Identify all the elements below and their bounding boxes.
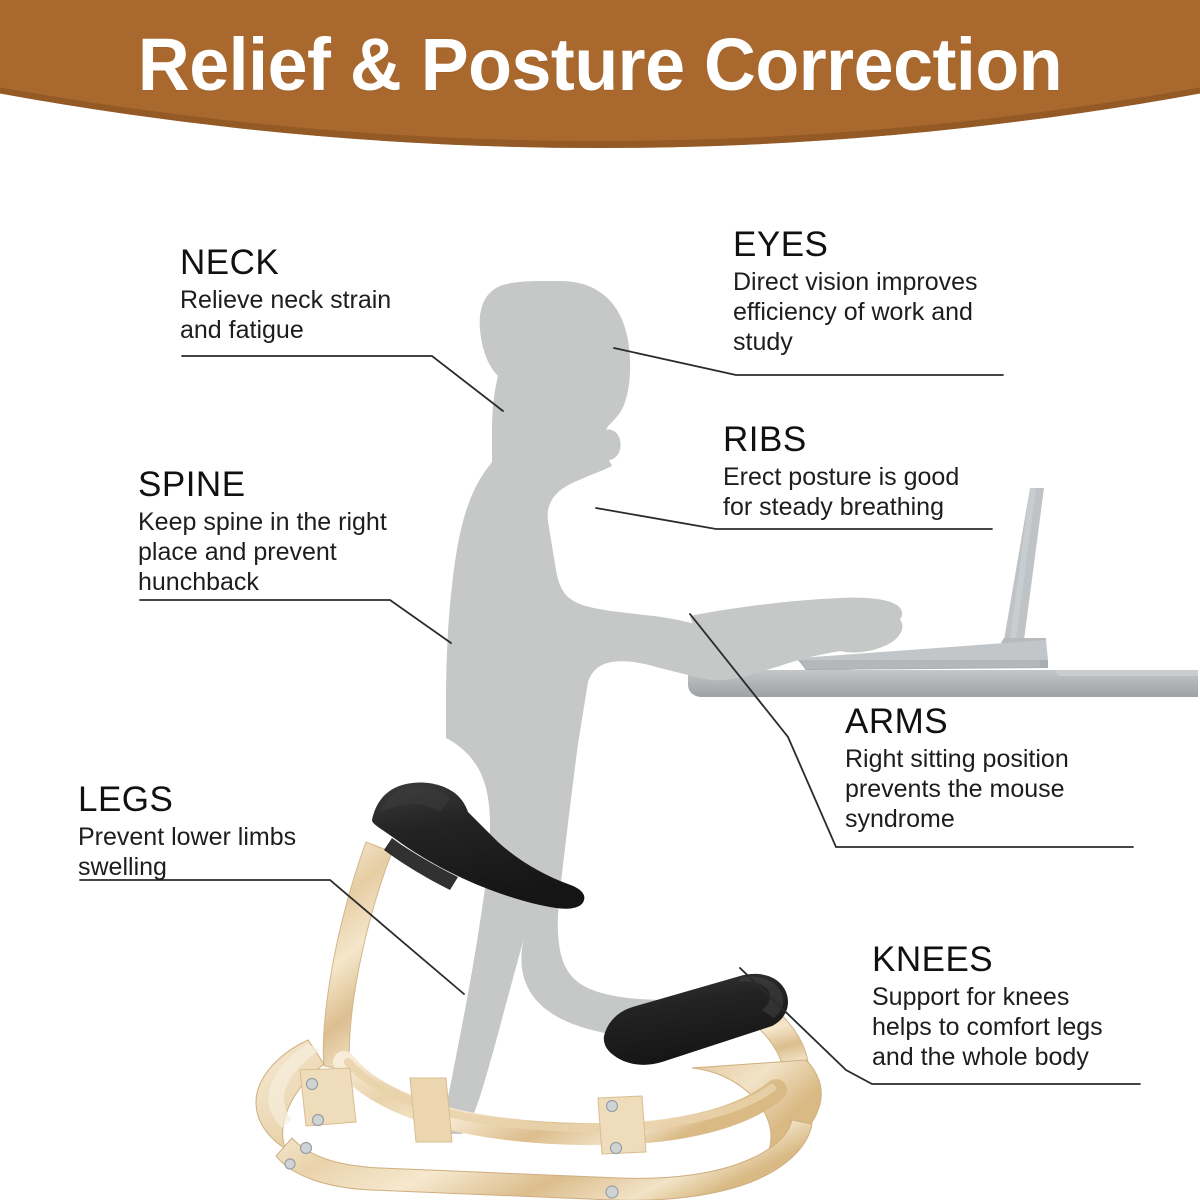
callout-eyes-body: Direct vision improves efficiency of wor…	[733, 267, 978, 357]
knee-cushion	[604, 974, 788, 1065]
callout-spine-title: SPINE	[138, 465, 387, 505]
callout-legs-title: LEGS	[78, 780, 296, 820]
callout-spine-body: Keep spine in the right place and preven…	[138, 507, 387, 597]
callout-ribs-title: RIBS	[723, 420, 959, 460]
callout-eyes: EYES Direct vision improves efficiency o…	[733, 225, 978, 357]
infographic-canvas: Relief & Posture Correction	[0, 0, 1200, 1200]
callout-ribs-body: Erect posture is good for steady breathi…	[723, 462, 959, 522]
callout-knees: KNEES Support for knees helps to comfort…	[872, 940, 1103, 1072]
callout-eyes-title: EYES	[733, 225, 978, 265]
callout-knees-title: KNEES	[872, 940, 1103, 980]
callout-arms: ARMS Right sitting position prevents the…	[845, 702, 1069, 834]
callout-arms-title: ARMS	[845, 702, 1069, 742]
callout-neck: NECK Relieve neck strain and fatigue	[180, 243, 391, 345]
callout-knees-body: Support for knees helps to comfort legs …	[872, 982, 1103, 1072]
callout-neck-title: NECK	[180, 243, 391, 283]
callout-legs: LEGS Prevent lower limbs swelling	[78, 780, 296, 882]
callout-arms-body: Right sitting position prevents the mous…	[845, 744, 1069, 834]
desk-surface	[688, 670, 1198, 697]
callout-legs-body: Prevent lower limbs swelling	[78, 822, 296, 882]
callout-ribs: RIBS Erect posture is good for steady br…	[723, 420, 959, 522]
callout-neck-body: Relieve neck strain and fatigue	[180, 285, 391, 345]
callout-spine: SPINE Keep spine in the right place and …	[138, 465, 387, 597]
